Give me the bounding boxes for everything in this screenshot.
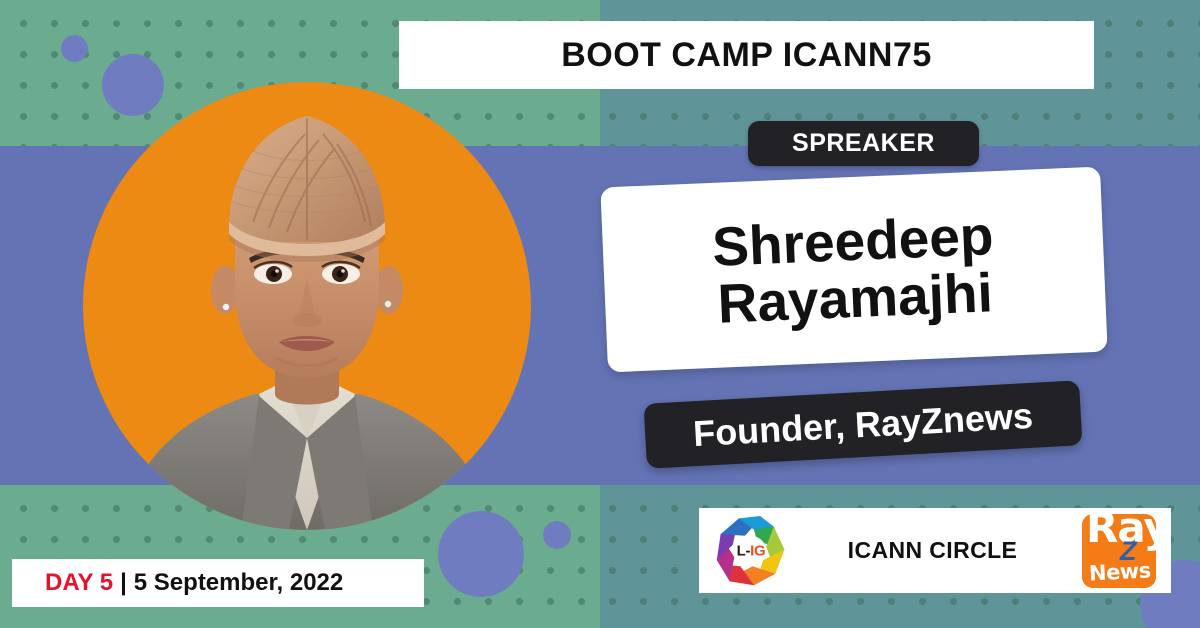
speaker-portrait-circle	[83, 82, 531, 530]
speaker-role-label: Founder, RayZnews	[692, 394, 1034, 454]
speaker-badge: SPREAKER	[748, 121, 979, 166]
lig-logo-l: L-	[737, 542, 751, 559]
event-day-label: DAY 5	[45, 569, 113, 597]
organizer-name: ICANN CIRCLE	[783, 537, 1082, 564]
lig-logo-text: L-IG	[737, 542, 766, 559]
speaker-announcement-poster: BOOT CAMP ICANN75 SPREAKER Shreedeep Ray…	[0, 0, 1200, 628]
speaker-badge-label: SPREAKER	[792, 129, 935, 158]
speaker-name-card: Shreedeep Rayamajhi	[600, 167, 1107, 373]
decorative-circle-small-top-left	[61, 35, 88, 62]
rayznews-news-text: News	[1088, 558, 1151, 585]
decorative-circle-small-bottom	[543, 521, 571, 549]
speaker-name-last: Rayamajhi	[717, 264, 994, 332]
event-title-bar: BOOT CAMP ICANN75	[399, 21, 1094, 89]
event-title: BOOT CAMP ICANN75	[561, 36, 932, 75]
lig-logo-ig: IG	[750, 542, 765, 559]
rayznews-logo-icon: Ray Z News	[1082, 514, 1156, 588]
event-date-text: 5 September, 2022	[134, 569, 343, 597]
organizer-logo-bar: L-IG ICANN CIRCLE Ray Z News	[699, 508, 1171, 593]
speaker-photo	[83, 82, 531, 530]
lig-logo-icon: L-IG	[713, 513, 789, 589]
event-date-bar: DAY 5 | 5 September, 2022	[12, 559, 424, 607]
date-separator: |	[113, 569, 134, 597]
